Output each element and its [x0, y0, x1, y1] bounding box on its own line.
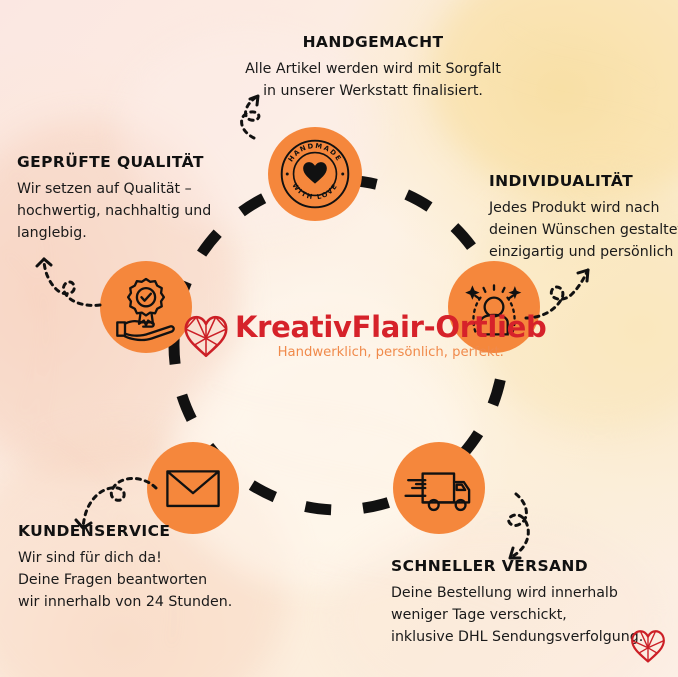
- section-title: KUNDENSERVICE: [18, 522, 268, 540]
- icon-circle-handgemacht[interactable]: HANDMADE WITH LOVE: [268, 127, 362, 221]
- section-line: Jedes Produkt wird nach: [489, 197, 678, 219]
- section-line: langlebig.: [17, 222, 247, 244]
- section-line: wir innerhalb von 24 Stunden.: [18, 591, 268, 613]
- section-line: weniger Tage verschickt,: [391, 604, 678, 626]
- section-line: deinen Wünschen gestaltet –: [489, 219, 678, 241]
- section-individualitaet: INDIVIDUALITÄT Jedes Produkt wird nach d…: [489, 172, 678, 263]
- section-line: Deine Fragen beantworten: [18, 569, 268, 591]
- envelope-icon: [161, 456, 225, 520]
- brand-logo[interactable]: KreativFlair-Ortlieb Handwerklich, persö…: [183, 312, 546, 360]
- brand-tagline: Handwerklich, persönlich, perfekt.: [278, 345, 504, 360]
- section-title: INDIVIDUALITÄT: [489, 172, 678, 190]
- section-kundenservice: KUNDENSERVICE Wir sind für dich da! Dein…: [18, 522, 268, 613]
- section-handgemacht: HANDGEMACHT Alle Artikel werden wird mit…: [243, 33, 503, 102]
- geometric-heart-icon: [183, 314, 229, 358]
- delivery-truck-icon: [403, 452, 475, 524]
- svg-text:WITH LOVE: WITH LOVE: [290, 182, 339, 202]
- section-line: in unserer Werkstatt finalisiert.: [243, 80, 503, 102]
- section-title: GEPRÜFTE QUALITÄT: [17, 153, 247, 171]
- infographic-poster: HANDMADE WITH LOVE: [0, 0, 678, 677]
- section-geprüfte-qualitaet: GEPRÜFTE QUALITÄT Wir setzen auf Qualitä…: [17, 153, 247, 244]
- section-line: Wir sind für dich da!: [18, 547, 268, 569]
- corner-brand-mark: [630, 629, 666, 667]
- brand-name: KreativFlair-Ortlieb: [235, 312, 546, 342]
- icon-circle-versand[interactable]: [393, 442, 485, 534]
- section-line: Alle Artikel werden wird mit Sorgfalt: [243, 58, 503, 80]
- section-title: HANDGEMACHT: [243, 33, 503, 51]
- section-line: einzigartig und persönlich: [489, 241, 678, 263]
- icon-circle-qualitaet[interactable]: [100, 261, 192, 353]
- section-title: SCHNELLER VERSAND: [391, 557, 678, 575]
- hand-holding-award-badge-icon: [111, 272, 181, 342]
- icon-circle-kundenservice[interactable]: [147, 442, 239, 534]
- section-line: Wir setzen auf Qualität –: [17, 178, 247, 200]
- section-line: hochwertig, nachhaltig und: [17, 200, 247, 222]
- handmade-with-love-stamp-icon: HANDMADE WITH LOVE: [278, 137, 352, 211]
- section-line: Deine Bestellung wird innerhalb: [391, 582, 678, 604]
- geometric-heart-icon: [630, 629, 666, 663]
